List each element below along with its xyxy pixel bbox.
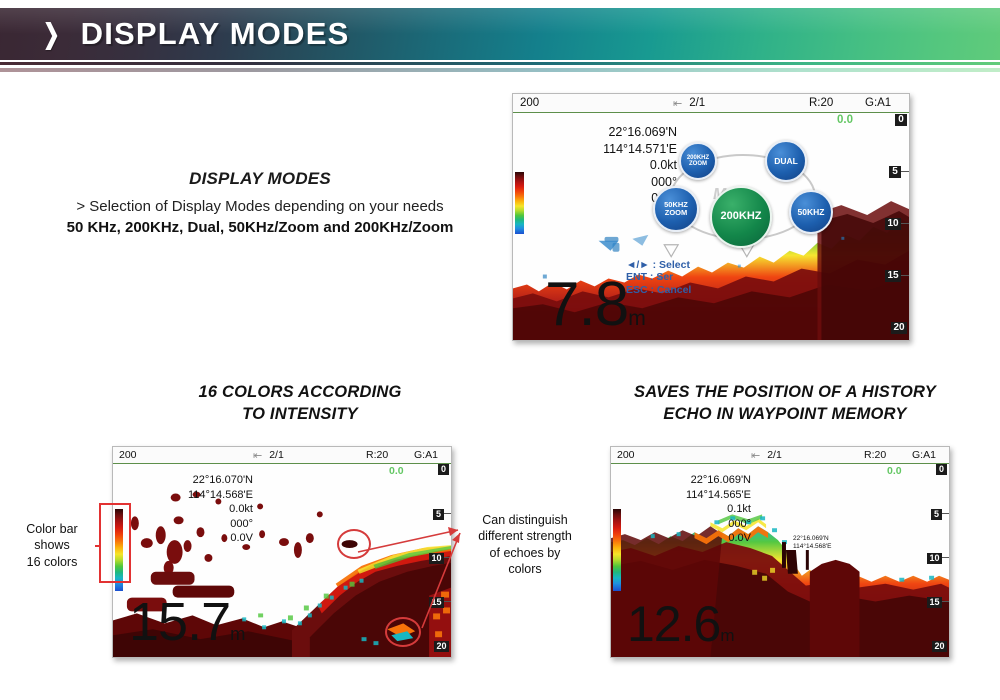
depth-tick-10 <box>942 557 949 558</box>
color-bar-annotation: Color bar shows 16 colors <box>10 521 94 570</box>
depth-tick-5 <box>901 171 909 172</box>
waypoint-longitude: 114°14.568'E <box>793 543 831 551</box>
echo-annotation-line-3: of echoes by <box>460 545 590 561</box>
echo-annotation-line-4: colors <box>460 561 590 577</box>
page-indicator: 2/1 <box>689 97 705 109</box>
color-bar-annotation-line-3: 16 colors <box>10 554 94 570</box>
left-arrow-icon[interactable]: ⇤ <box>751 449 760 462</box>
depth-readout-bottom-right: 12.6m <box>627 599 735 649</box>
echo-highlight-upper <box>337 529 371 559</box>
hint-select: ◄/► : Select <box>626 259 691 271</box>
header-stripe-lower <box>0 68 1000 72</box>
color-bar-annotation-line-2: shows <box>10 537 94 553</box>
left-arrow-icon[interactable]: ⇤ <box>673 97 682 110</box>
intro-title: DISPLAY MODES <box>20 168 500 189</box>
nav-readout-bottom-right: 22°16.069'N 114°14.565'E 0.1kt 000° 0.0V <box>623 473 751 546</box>
page-title: DISPLAY MODES <box>81 16 350 52</box>
depth-value: 15.7 <box>129 592 230 652</box>
depth-scale-10: 10 <box>429 553 444 564</box>
depth-unit: m <box>628 307 646 330</box>
page-indicator: 2/1 <box>767 449 782 461</box>
gain-label: G:A1 <box>912 449 936 461</box>
depth-tick-10 <box>901 223 909 224</box>
depth-scale-5: 5 <box>889 166 901 178</box>
mode-node-50khz-zoom[interactable]: 50KHZZOOM <box>653 186 699 232</box>
mode-node-200khz-zoom[interactable]: 200KHZZOOM <box>679 142 717 180</box>
echo-annotation-line-2: different strength <box>460 528 590 544</box>
page-header: ❯ DISPLAY MODES <box>0 0 1000 75</box>
depth-scale-0: 0 <box>438 464 449 475</box>
sonar-topbar-top: 200 ⇤ 2/1 R:20 G:A1 <box>513 94 909 113</box>
sonar-screen-top[interactable]: 200 ⇤ 2/1 R:20 G:A1 0.0 22°16.069'N 114°… <box>512 93 910 341</box>
depth-scale-10: 10 <box>885 218 901 230</box>
depth-readout-top: 7.8m <box>545 274 646 336</box>
gain-label: G:A1 <box>414 449 438 461</box>
heading-value: 000° <box>125 517 253 532</box>
depth-tick-10 <box>444 557 451 558</box>
longitude-value: 114°14.565'E <box>623 488 751 503</box>
speed-value: 0.1kt <box>623 502 751 517</box>
intro-line-2: 50 KHz, 200KHz, Dual, 50KHz/Zoom and 200… <box>20 219 500 236</box>
waypoint-latitude: 22°16.069'N <box>793 535 831 543</box>
latitude-value: 22°16.069'N <box>623 473 751 488</box>
depth-scale-15: 15 <box>885 270 901 282</box>
depth-scale-20: 20 <box>434 641 449 652</box>
depth-scale-20: 20 <box>891 322 907 334</box>
mode-node-50khz[interactable]: 50KHZ <box>789 190 833 234</box>
color-bar-highlight-box <box>99 503 131 583</box>
heading-16-colors: 16 COLORS ACCORDING TO INTENSITY <box>60 381 540 426</box>
heading-value: 000° <box>623 517 751 532</box>
heading-waypoint-memory: SAVES THE POSITION OF A HISTORY ECHO IN … <box>570 381 1000 426</box>
heading-16-colors-line-1: 16 COLORS ACCORDING <box>60 381 540 403</box>
range-label: R:20 <box>864 449 886 461</box>
frequency-label: 200 <box>119 449 137 461</box>
left-arrow-icon[interactable]: ⇤ <box>253 449 262 462</box>
speed-value: 0.0kt <box>125 502 253 517</box>
sonar-screen-bottom-left[interactable]: 200 ⇤ 2/1 R:20 G:A1 0.0 22°16.070'N 114°… <box>112 446 452 658</box>
gain-label: G:A1 <box>865 97 891 109</box>
color-bar-top <box>515 172 524 234</box>
voltage-value: 0.0V <box>125 531 253 546</box>
depth-tick-15 <box>942 601 949 602</box>
latitude-value: 22°16.070'N <box>125 473 253 488</box>
header-stripe-upper <box>0 62 1000 65</box>
echo-annotation-line-1: Can distinguish <box>460 512 590 528</box>
mode-selection-wheel[interactable]: Mode 200KHZZOOM DUAL 50KHZ 50KHZZOOM 200… <box>653 142 833 252</box>
depth-scale-10: 10 <box>927 553 942 564</box>
frequency-label: 200 <box>617 449 635 461</box>
frequency-label: 200 <box>520 97 539 109</box>
sonar-topbar-bottom-right: 200 ⇤ 2/1 R:20 G:A1 <box>611 447 949 464</box>
header-gradient-bar: ❯ DISPLAY MODES <box>0 8 1000 60</box>
chevron-right-icon: ❯ <box>43 21 60 48</box>
heading-waypoint-line-1: SAVES THE POSITION OF A HISTORY <box>570 381 1000 403</box>
surface-value-bottom-left: 0.0 <box>389 465 404 477</box>
sonar-topbar-bottom-left: 200 ⇤ 2/1 R:20 G:A1 <box>113 447 451 464</box>
heading-waypoint-line-2: ECHO IN WAYPOINT MEMORY <box>570 403 1000 425</box>
mode-node-200khz-selected[interactable]: 200KHZ <box>710 186 772 248</box>
depth-tick-5 <box>942 513 949 514</box>
depth-scale-20: 20 <box>932 641 947 652</box>
depth-tick-15 <box>901 275 909 276</box>
depth-scale-5: 5 <box>433 509 444 520</box>
echo-strength-annotation: Can distinguish different strength of ec… <box>460 512 590 577</box>
heading-16-colors-line-2: TO INTENSITY <box>60 403 540 425</box>
nav-readout-bottom-left: 22°16.070'N 114°14.568'E 0.0kt 000° 0.0V <box>125 473 253 546</box>
longitude-value: 114°14.568'E <box>125 488 253 503</box>
depth-tick-5 <box>444 513 451 514</box>
depth-scale-5: 5 <box>931 509 942 520</box>
mode-node-dual[interactable]: DUAL <box>765 140 807 182</box>
page-indicator: 2/1 <box>269 449 284 461</box>
echo-highlight-lower <box>385 617 421 647</box>
range-label: R:20 <box>366 449 388 461</box>
voltage-value: 0.0V <box>623 531 751 546</box>
depth-unit: m <box>720 626 734 645</box>
surface-value-top: 0.0 <box>837 114 853 126</box>
depth-scale-0: 0 <box>936 464 947 475</box>
depth-scale-15: 15 <box>429 597 444 608</box>
surface-value-bottom-right: 0.0 <box>887 465 902 477</box>
depth-value: 7.8 <box>545 270 628 339</box>
depth-scale-15: 15 <box>927 597 942 608</box>
color-bar-bottom-right <box>613 509 621 591</box>
range-label: R:20 <box>809 97 833 109</box>
intro-caption: DISPLAY MODES > Selection of Display Mod… <box>20 168 500 236</box>
depth-readout-bottom-left: 15.7m <box>129 595 245 649</box>
waypoint-marker-label: 22°16.069'N 114°14.568'E <box>793 535 831 551</box>
color-bar-leader-line <box>95 545 101 547</box>
sonar-screen-bottom-right[interactable]: 200 ⇤ 2/1 R:20 G:A1 0.0 22°16.069'N 114°… <box>610 446 950 658</box>
depth-unit: m <box>230 623 245 644</box>
intro-line-1: > Selection of Display Modes depending o… <box>20 198 500 215</box>
color-bar-annotation-line-1: Color bar <box>10 521 94 537</box>
latitude-value: 22°16.069'N <box>527 124 677 141</box>
depth-scale-0: 0 <box>895 114 907 126</box>
depth-value: 12.6 <box>627 596 720 652</box>
depth-tick-15 <box>444 601 451 602</box>
